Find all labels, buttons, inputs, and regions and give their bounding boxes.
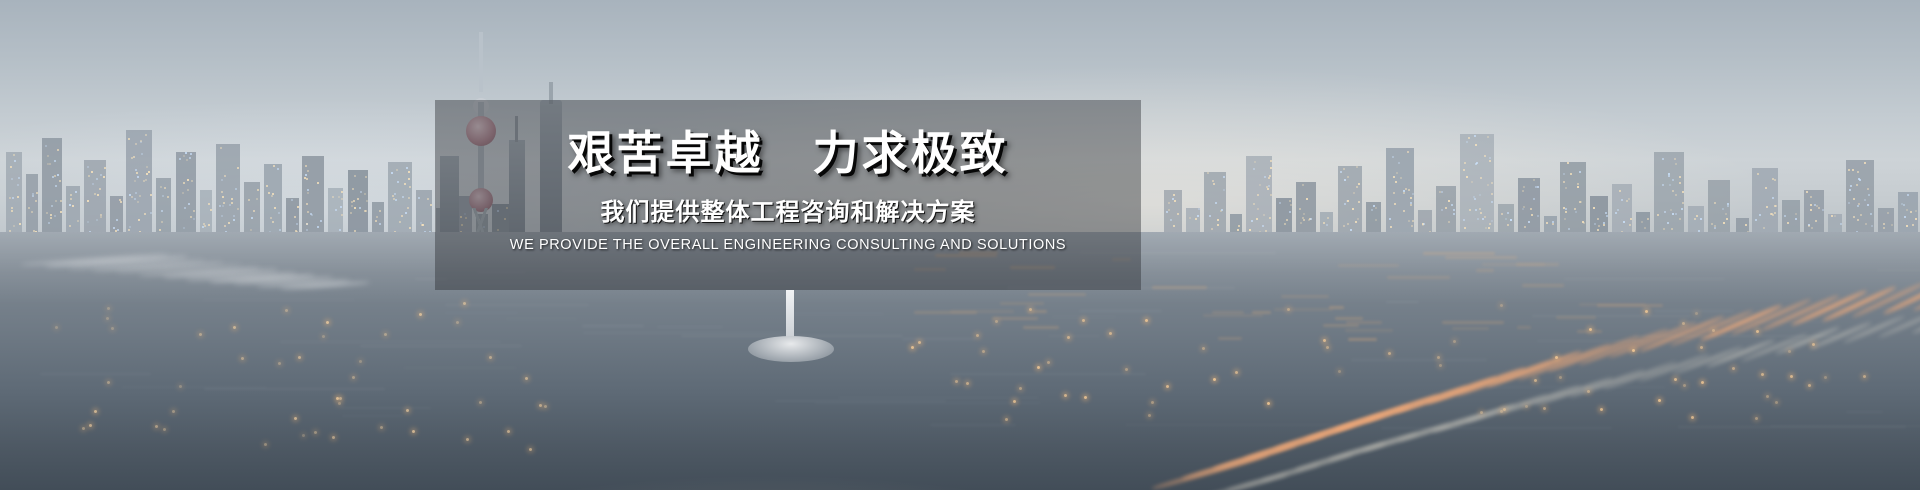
building-window-light	[1714, 202, 1716, 204]
building-window-light	[32, 195, 34, 197]
river-warm-reflection	[1442, 321, 1504, 324]
river-light-streak	[1351, 359, 1486, 361]
street-lamp-light	[918, 341, 921, 344]
building-window-light	[1487, 136, 1489, 138]
building-window-light	[1257, 194, 1259, 196]
building-window-light	[45, 145, 47, 147]
building-window-light	[1575, 211, 1577, 213]
building-window-light	[187, 179, 189, 181]
building-window-light	[376, 216, 378, 218]
building-window-light	[47, 155, 49, 157]
building-window-light	[1662, 158, 1664, 160]
building-window-light	[253, 210, 255, 212]
building-window-light	[162, 195, 164, 197]
building-window-light	[1207, 172, 1209, 174]
building-window-light	[1795, 213, 1797, 215]
building-window-light	[1487, 184, 1489, 186]
building-window-light	[131, 196, 133, 198]
street-lamp-light	[1148, 414, 1151, 417]
building-window-light	[1531, 214, 1533, 216]
river-light-streak	[838, 397, 1039, 399]
street-lamp-light	[489, 356, 492, 359]
building-window-light	[1475, 163, 1477, 165]
building-window-light	[427, 198, 429, 200]
river-light-streak	[814, 402, 1041, 404]
building-window-light	[92, 183, 94, 185]
building-window-light	[270, 217, 272, 219]
building-window-light	[1189, 217, 1191, 219]
building-window-light	[1395, 181, 1397, 183]
building-window-light	[231, 202, 233, 204]
building-window-light	[1471, 181, 1473, 183]
building-window-light	[18, 177, 20, 179]
building-window-light	[1393, 192, 1395, 194]
building-window-light	[340, 206, 342, 208]
river-light-streak	[40, 373, 151, 375]
building-window-light	[1491, 201, 1493, 203]
building-window-light	[116, 219, 118, 221]
building-window-light	[307, 192, 309, 194]
river-warm-reflection	[1516, 263, 1559, 266]
river-light-streak	[930, 424, 1016, 426]
building-window-light	[335, 209, 337, 211]
building-window-light	[1565, 211, 1567, 213]
street-lamp-light	[1589, 328, 1592, 331]
building-window-light	[408, 197, 410, 199]
building-window-light	[317, 182, 319, 184]
building-window-light	[1412, 193, 1414, 195]
street-lamp-light	[1808, 384, 1811, 387]
building-window-light	[1816, 205, 1818, 207]
building-window-light	[1475, 209, 1477, 211]
building-window-light	[150, 212, 152, 214]
building-window-light	[188, 203, 190, 205]
building-window-light	[88, 175, 90, 177]
river-warm-reflection	[1345, 329, 1392, 332]
building-window-light	[70, 198, 72, 200]
building-window-light	[274, 207, 276, 209]
building-window-light	[72, 205, 74, 207]
building-window-light	[353, 200, 355, 202]
building-window-light	[12, 197, 14, 199]
building-window-light	[1857, 171, 1859, 173]
building-window-light	[35, 200, 37, 202]
street-lamp-light	[419, 313, 422, 316]
building-window-light	[1213, 183, 1215, 185]
building-window-light	[1675, 213, 1677, 215]
building-window-light	[146, 166, 148, 168]
building-window-light	[1903, 204, 1905, 206]
building-window-light	[185, 152, 187, 154]
street-lamp-light	[1812, 343, 1815, 346]
building-window-light	[305, 165, 307, 167]
building-window-light	[1848, 202, 1850, 204]
river-light-streak	[902, 338, 976, 340]
building-window-light	[146, 173, 148, 175]
building-window-light	[208, 203, 210, 205]
river-light-streak	[657, 326, 723, 328]
river-warm-reflection	[1452, 327, 1489, 330]
building-window-light	[1408, 189, 1410, 191]
building-window-light	[1476, 162, 1478, 164]
street-lamp-light	[1775, 401, 1778, 404]
street-lamp-light	[1645, 310, 1648, 313]
building-window-light	[408, 178, 410, 180]
street-lamp-light	[995, 320, 998, 323]
street-lamp-light	[1151, 401, 1154, 404]
building-window-light	[233, 219, 235, 221]
building-window-light	[1343, 168, 1345, 170]
building-window-light	[129, 194, 131, 196]
street-lamp-light	[1500, 304, 1503, 307]
building-window-light	[1198, 208, 1200, 210]
building-window-light	[341, 214, 343, 216]
river-light-streak	[204, 388, 385, 390]
building-window-light	[1270, 167, 1272, 169]
street-lamp-light	[1287, 308, 1290, 311]
building-window-light	[1356, 166, 1358, 168]
river-warm-reflection	[1445, 256, 1517, 259]
building-window-light	[1445, 207, 1447, 209]
building-window-light	[1340, 171, 1342, 173]
street-lamp-light	[966, 382, 969, 385]
building-window-light	[294, 216, 296, 218]
building-window-light	[1849, 189, 1851, 191]
street-lamp-light	[1500, 410, 1503, 413]
building-window-light	[1853, 198, 1855, 200]
building-window-light	[182, 192, 184, 194]
building-window-light	[1860, 214, 1862, 216]
building-window-light	[311, 214, 313, 216]
building-window-light	[1784, 215, 1786, 217]
building-window-light	[1479, 208, 1481, 210]
building-window-light	[1474, 198, 1476, 200]
building-window-light	[1593, 207, 1595, 209]
building-window-light	[1403, 210, 1405, 212]
street-lamp-light	[529, 448, 532, 451]
river-warm-reflection	[1023, 326, 1060, 329]
building-window-light	[1400, 177, 1402, 179]
river-warm-reflection	[1281, 295, 1329, 298]
building-window-light	[1223, 189, 1225, 191]
building-window-light	[94, 193, 96, 195]
building-window-light	[1848, 169, 1850, 171]
building-window-light	[1772, 197, 1774, 199]
building-window-light	[140, 140, 142, 142]
street-lamp-light	[1437, 356, 1440, 359]
building-window-light	[1279, 202, 1281, 204]
pearl-antenna-mast	[479, 32, 483, 92]
river-light-streak	[1079, 310, 1162, 312]
building-window-light	[402, 196, 404, 198]
river-warm-reflection	[1387, 276, 1450, 279]
building-window-light	[57, 149, 59, 151]
building-window-light	[1679, 182, 1681, 184]
building-window-light	[1570, 173, 1572, 175]
street-lamp-light	[1701, 381, 1704, 384]
building-window-light	[1722, 208, 1724, 210]
building-window-light	[404, 183, 406, 185]
building-window-light	[143, 180, 145, 182]
street-lamp-light	[1202, 347, 1205, 350]
building-window-light	[187, 189, 189, 191]
building-window-light	[1574, 208, 1576, 210]
street-lamp-light	[298, 356, 301, 359]
building-window-light	[1403, 192, 1405, 194]
building-window-light	[1765, 187, 1767, 189]
building-window-light	[1270, 160, 1272, 162]
river-warm-reflection	[1556, 316, 1596, 319]
building-window-light	[1173, 194, 1175, 196]
building-window-light	[1299, 208, 1301, 210]
building-window-light	[1810, 196, 1812, 198]
building-window-light	[1197, 215, 1199, 217]
street-lamp-light	[314, 431, 317, 434]
building-window-light	[161, 210, 163, 212]
building-window-light	[394, 193, 396, 195]
building-window-light	[221, 215, 223, 217]
river-warm-reflection	[1203, 314, 1263, 317]
building-window-light	[1867, 188, 1869, 190]
building-window-light	[50, 214, 52, 216]
building-window-light	[229, 204, 231, 206]
building-window-light	[191, 180, 193, 182]
building-window-light	[1867, 204, 1869, 206]
river-warm-reflection	[1000, 302, 1044, 305]
building-window-light	[1774, 205, 1776, 207]
building-window-light	[1907, 194, 1909, 196]
building-window-light	[407, 207, 409, 209]
river-warm-reflection	[1597, 304, 1663, 307]
river-light-streak	[341, 407, 432, 409]
building-window-light	[57, 174, 59, 176]
building-window-light	[408, 171, 410, 173]
building-window-light	[1657, 214, 1659, 216]
building-window-light	[291, 199, 293, 201]
building-window-light	[179, 158, 181, 160]
building-window-light	[190, 153, 192, 155]
building-window-light	[1565, 187, 1567, 189]
building-window-light	[1353, 192, 1355, 194]
building-window-light	[1269, 175, 1271, 177]
building-window-light	[278, 212, 280, 214]
building-window-light	[141, 153, 143, 155]
building-window-light	[277, 168, 279, 170]
river-light-streak	[445, 312, 517, 314]
building-window-light	[1669, 184, 1671, 186]
building-window-light	[306, 178, 308, 180]
building-window-light	[297, 206, 299, 208]
building-window-light	[1469, 209, 1471, 211]
building-window-light	[135, 192, 137, 194]
building-window-light	[1615, 212, 1617, 214]
riverside-monument	[786, 290, 794, 342]
building-window-light	[1410, 204, 1412, 206]
building-window-light	[1770, 213, 1772, 215]
street-lamp-light	[302, 434, 305, 437]
building-window-light	[223, 202, 225, 204]
building-window-light	[221, 191, 223, 193]
building-window-light	[1466, 176, 1468, 178]
building-window-light	[1834, 215, 1836, 217]
building-window-light	[14, 160, 16, 162]
street-lamp-light	[1700, 346, 1703, 349]
river-light-streak	[582, 325, 645, 327]
river-light-streak	[583, 332, 785, 334]
building-window-light	[100, 174, 102, 176]
building-window-light	[418, 197, 420, 199]
building-window-light	[1906, 209, 1908, 211]
river-light-streak	[342, 415, 403, 417]
street-lamp-light	[1453, 340, 1456, 343]
building-window-light	[1441, 209, 1443, 211]
building-window-light	[272, 193, 274, 195]
river-light-streak	[202, 299, 355, 301]
building-window-light	[1289, 211, 1291, 213]
building-window-light	[133, 156, 135, 158]
street-lamp-light	[89, 424, 92, 427]
building-window-light	[397, 181, 399, 183]
street-lamp-light	[107, 307, 110, 310]
building-window-light	[1302, 184, 1304, 186]
street-lamp-light	[1600, 408, 1603, 411]
street-lamp-light	[155, 425, 158, 428]
building-window-light	[1464, 162, 1466, 164]
building-window-light	[365, 210, 367, 212]
river-warm-reflection	[1476, 269, 1494, 272]
building-window-light	[1448, 200, 1450, 202]
building-window-light	[220, 147, 222, 149]
building-window-light	[1696, 215, 1698, 217]
street-lamp-light	[1658, 399, 1661, 402]
building-window-light	[352, 188, 354, 190]
building-window-light	[1664, 211, 1666, 213]
building-window-light	[51, 205, 53, 207]
building-window-light	[135, 143, 137, 145]
building-window-light	[96, 178, 98, 180]
street-lamp-light	[1682, 322, 1685, 325]
building-window-light	[364, 193, 366, 195]
building-window-light	[119, 199, 121, 201]
building-window-light	[70, 194, 72, 196]
building-window-light	[134, 180, 136, 182]
river-light-streak	[1564, 278, 1725, 280]
building-window-light	[137, 201, 139, 203]
building-window-light	[1626, 200, 1628, 202]
building-window-light	[1453, 209, 1455, 211]
building-window-light	[1537, 186, 1539, 188]
street-lamp-light	[1013, 400, 1016, 403]
building-window-light	[96, 219, 98, 221]
building-window-light	[1306, 198, 1308, 200]
building-window-light	[1257, 208, 1259, 210]
building-window-light	[1480, 212, 1482, 214]
river-light-streak	[1052, 316, 1116, 318]
street-lamp-light	[106, 317, 109, 320]
building-window-light	[1344, 179, 1346, 181]
building-window-light	[1757, 173, 1759, 175]
building-window-light	[60, 200, 62, 202]
building-window-light	[144, 213, 146, 215]
street-lamp-light	[539, 404, 542, 407]
building-window-light	[1606, 215, 1608, 217]
building-window-light	[1672, 213, 1674, 215]
building-window-light	[100, 216, 102, 218]
building-window-light	[135, 169, 137, 171]
building-window-light	[10, 166, 12, 168]
building-window-light	[1254, 161, 1256, 163]
building-window-light	[36, 192, 38, 194]
building-window-light	[237, 167, 239, 169]
building-window-light	[1347, 200, 1349, 202]
street-lamp-light	[1388, 352, 1391, 355]
river-light-streak	[280, 341, 501, 343]
street-lamp-light	[1824, 376, 1827, 379]
street-lamp-light	[525, 377, 528, 380]
building-window-light	[1501, 213, 1503, 215]
building-window-light	[1563, 173, 1565, 175]
building-window-light	[1766, 206, 1768, 208]
street-lamp-light	[278, 362, 281, 365]
building-window-light	[134, 198, 136, 200]
building-window-light	[1358, 201, 1360, 203]
building-window-light	[1168, 202, 1170, 204]
building-window-light	[1621, 199, 1623, 201]
building-window-light	[1535, 186, 1537, 188]
street-lamp-light	[1732, 367, 1735, 370]
building-window-light	[248, 199, 250, 201]
building-window-light	[1221, 209, 1223, 211]
building-window-light	[1480, 177, 1482, 179]
building-window-light	[1523, 206, 1525, 208]
river-warm-reflection	[1028, 293, 1086, 296]
building-window-light	[405, 212, 407, 214]
building-window-light	[268, 192, 270, 194]
building-window-light	[75, 191, 77, 193]
building-window-light	[186, 159, 188, 161]
monument-base	[748, 336, 834, 362]
building-window-light	[183, 155, 185, 157]
building-window-light	[1166, 211, 1168, 213]
street-lamp-light	[1543, 407, 1546, 410]
building-window-light	[1774, 179, 1776, 181]
building-window-light	[251, 217, 253, 219]
building-window-light	[1268, 185, 1270, 187]
river-light-streak	[1770, 425, 1920, 427]
river-warm-reflection	[1522, 284, 1564, 287]
street-lamp-light	[1439, 364, 1442, 367]
building-window-light	[1759, 214, 1761, 216]
building-window-light	[1675, 194, 1677, 196]
building-window-light	[1674, 158, 1676, 160]
building-window-light	[1398, 162, 1400, 164]
building-window-light	[28, 207, 30, 209]
building-window-light	[1682, 202, 1684, 204]
street-lamp-light	[1029, 308, 1032, 311]
building-window-light	[1463, 169, 1465, 171]
building-window-light	[31, 211, 33, 213]
building-window-light	[1264, 176, 1266, 178]
building-window-light	[91, 171, 93, 173]
building-window-light	[1668, 173, 1670, 175]
building-window-light	[1479, 194, 1481, 196]
building-window-light	[1263, 214, 1265, 216]
river-light-streak	[1381, 427, 1611, 429]
building-window-light	[222, 196, 224, 198]
building-window-light	[1818, 207, 1820, 209]
river-warm-reflection	[1252, 311, 1271, 314]
building-window-light	[1489, 157, 1491, 159]
